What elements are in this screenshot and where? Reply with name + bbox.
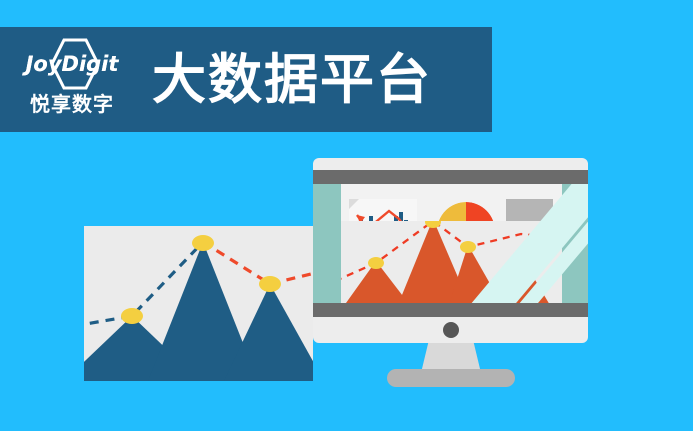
data-marker-2 [192, 235, 214, 251]
monitor-screen [313, 184, 588, 317]
trend-line-red-dashed [203, 242, 313, 284]
blue-mountain-chart [84, 226, 313, 381]
page-fold-icon [349, 199, 359, 209]
brand-logo: JoyDigit 悦享数字 [12, 36, 132, 124]
left-chart-panel [84, 226, 313, 381]
screen-content-area [341, 184, 562, 317]
data-marker-1 [121, 308, 143, 324]
monitor-top-bar [313, 170, 588, 184]
monitor [313, 158, 588, 343]
page-title: 大数据平台 [152, 53, 432, 107]
power-button-icon[interactable] [443, 322, 459, 338]
monitor-bottom-bar [313, 303, 588, 317]
monitor-base [387, 369, 515, 387]
header-banner: JoyDigit 悦享数字 大数据平台 [0, 27, 492, 132]
data-marker-3 [259, 276, 281, 292]
logo-wordmark: JoyDigit [12, 52, 132, 76]
area-marker-1 [368, 257, 384, 269]
logo-subtitle: 悦享数字 [12, 88, 132, 117]
illustration-canvas: JoyDigit 悦享数字 大数据平台 [0, 0, 693, 431]
area-marker-3 [460, 241, 476, 253]
